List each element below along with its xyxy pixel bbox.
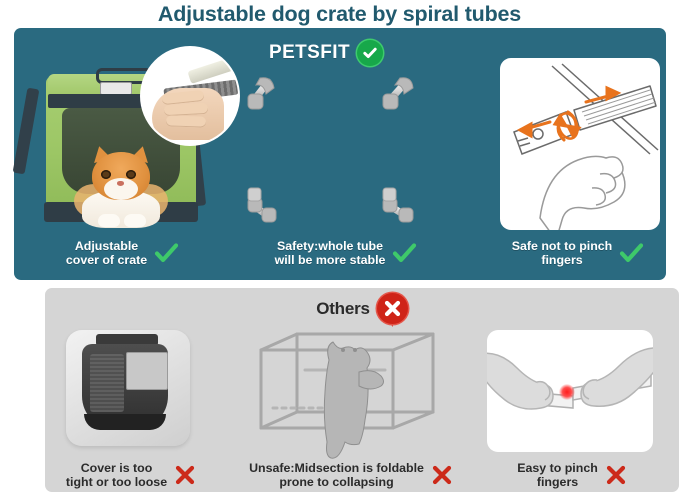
hands-adjusting-spiral-tube-illustration [500, 58, 660, 230]
cat-paw-left [98, 214, 120, 227]
brand-label: PETSFIT [269, 42, 350, 64]
crate-inner-panel [126, 352, 168, 390]
cat-eye-left [101, 170, 111, 179]
pinch-pain-indicator [559, 384, 575, 400]
check-icon [619, 242, 644, 264]
caption-loose-cover: Cover is too tight or too loose [36, 460, 226, 490]
caption-text: Unsafe:Midsection is foldable prone to c… [249, 461, 424, 489]
check-icon [154, 242, 179, 264]
caption-text: Safety:whole tube will be more stable [275, 239, 386, 267]
cross-icon [431, 464, 453, 486]
hands-pinching-tube-illustration [487, 330, 653, 452]
crate-floor [84, 414, 166, 430]
crate-mesh-panel [90, 354, 124, 412]
cat-eye-right [126, 170, 136, 179]
caption-text: Adjustable cover of crate [66, 239, 147, 267]
caption-text: Easy to pinch fingers [517, 461, 598, 489]
caption-pinch-fingers: Easy to pinch fingers [484, 460, 660, 490]
cat-nose [117, 181, 124, 186]
cross-icon [174, 464, 196, 486]
hand-holding-spiral-tube-inset [142, 48, 238, 144]
check-icon [392, 242, 417, 264]
page-title: Adjustable dog crate by spiral tubes [0, 1, 679, 27]
caption-foldable-midsection: Unsafe:Midsection is foldable prone to c… [236, 460, 466, 490]
caption-no-pinch: Safe not to pinch fingers [490, 236, 666, 270]
cross-icon [605, 464, 627, 486]
loose-fabric-crate [66, 330, 190, 446]
crate-shoulder-strap [13, 88, 40, 175]
cat-in-crate [72, 144, 170, 228]
caption-text: Cover is too tight or too loose [66, 461, 167, 489]
infographic-page: Adjustable dog crate by spiral tubes PET… [0, 0, 679, 492]
crate-frame-wireframe-diagram [238, 66, 434, 238]
caption-text: Safe not to pinch fingers [512, 239, 613, 267]
green-crate-with-cat-photo [14, 52, 231, 238]
brand-label: Others [316, 299, 370, 319]
caption-adjustable-cover: Adjustable cover of crate [14, 236, 231, 270]
gray-fabric-crate-photo [52, 322, 214, 458]
cat-paw-right [124, 214, 146, 227]
caption-whole-tube-safety: Safety:whole tube will be more stable [236, 236, 456, 270]
check-circle-icon [357, 40, 383, 66]
collapsing-crate-frame-with-cat-diagram [243, 320, 455, 460]
inset-finger-2 [164, 103, 209, 116]
inset-finger-3 [166, 115, 206, 127]
